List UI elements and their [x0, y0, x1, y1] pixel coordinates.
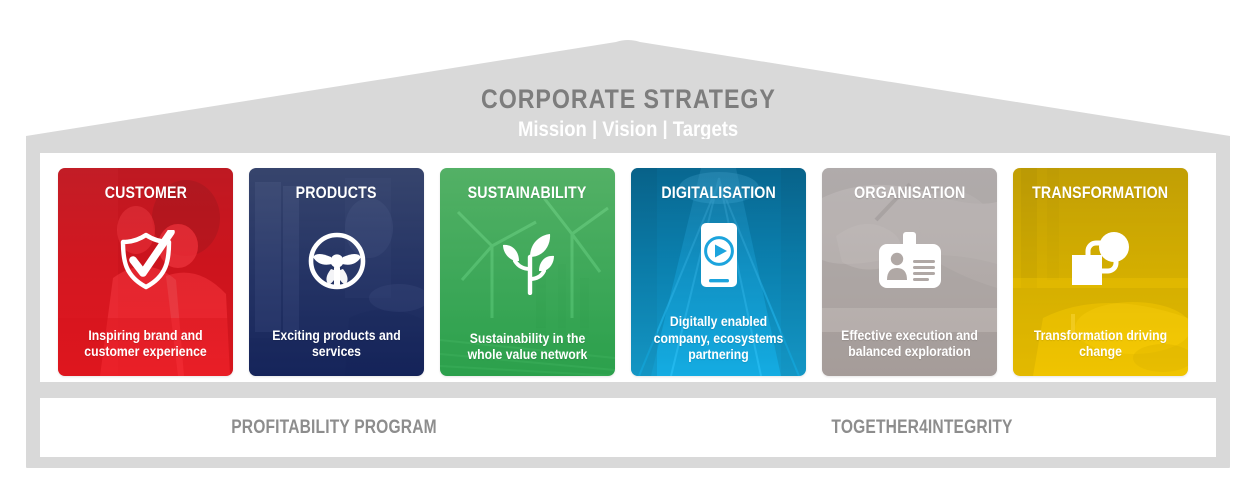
pillar-caption: Inspiring brand and customer experience [67, 328, 225, 376]
pillar-caption: Effective execution and balanced explora… [831, 328, 989, 376]
programs-panel: PROFITABILITY PROGRAM TOGETHER4INTEGRITY [40, 398, 1216, 457]
house-roof [26, 40, 1230, 142]
id-badge-icon [822, 203, 997, 328]
pillar-title: TRANSFORMATION [1032, 184, 1168, 203]
square-to-circle-icon [1013, 203, 1188, 328]
pillar-card-digitalisation[interactable]: DIGITALISATION Digitally enabled company… [631, 168, 806, 376]
steering-wheel-icon [249, 203, 424, 328]
plant-leaves-icon [440, 203, 615, 331]
program-profitability[interactable]: PROFITABILITY PROGRAM [99, 416, 569, 439]
pillar-card-customer[interactable]: CUSTOMER Inspiring brand and customer ex… [58, 168, 233, 376]
pillar-title: CUSTOMER [104, 184, 186, 203]
pillar-card-products[interactable]: PRODUCTS Exciting products and services [249, 168, 424, 376]
pillar-title: SUSTAINABILITY [468, 184, 587, 203]
pillar-caption: Exciting products and services [258, 328, 416, 376]
pillar-caption: Transformation driving change [1022, 328, 1180, 376]
pillar-title: DIGITALISATION [661, 184, 776, 203]
pillar-caption: Sustainability in the whole value networ… [449, 331, 607, 376]
pillar-card-sustainability[interactable]: SUSTAINABILITY Sustainability in the who… [440, 168, 615, 376]
pillar-card-transformation[interactable]: TRANSFORMATION Transformation driving ch… [1013, 168, 1188, 376]
pillar-caption: Digitally enabled company, ecosystems pa… [640, 314, 798, 376]
pillar-card-row: CUSTOMER Inspiring brand and customer ex… [58, 168, 1198, 376]
strategy-house-diagram: CORPORATE STRATEGY Mission | Vision | Ta… [0, 0, 1256, 500]
pillar-title: ORGANISATION [854, 184, 965, 203]
smartphone-play-icon [631, 203, 806, 314]
pillar-card-organisation[interactable]: ORGANISATION E [822, 168, 997, 376]
program-together4integrity[interactable]: TOGETHER4INTEGRITY [687, 416, 1157, 439]
shield-check-icon [58, 203, 233, 328]
pillar-title: PRODUCTS [296, 184, 377, 203]
